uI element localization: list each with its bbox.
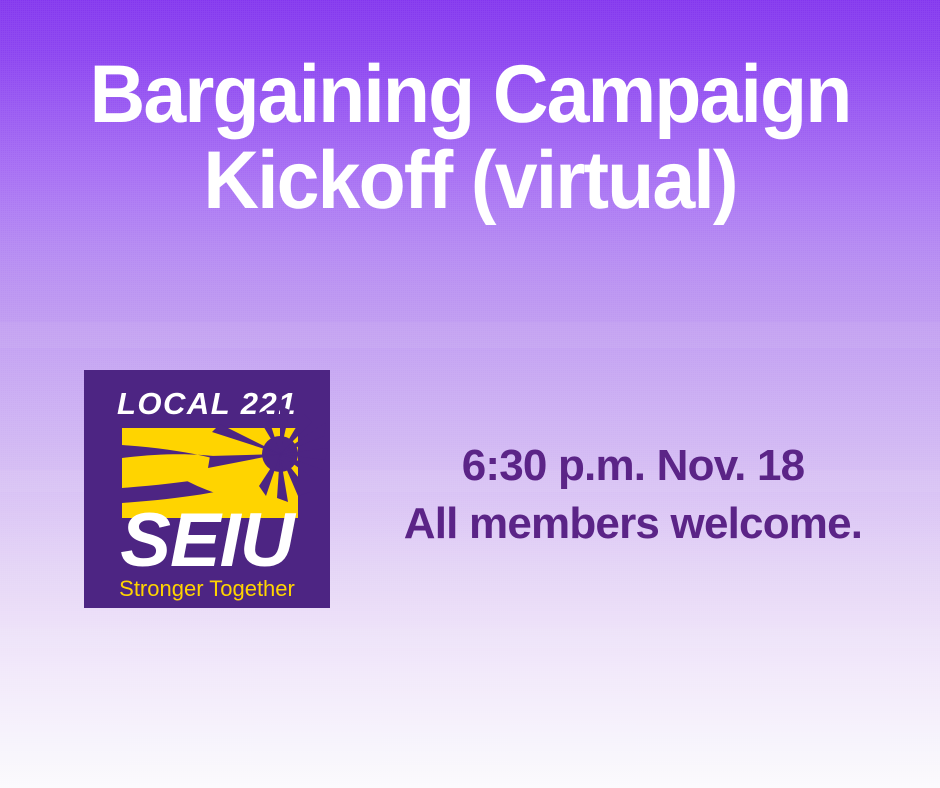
event-time-date: 6:30 p.m. Nov. 18: [350, 437, 916, 495]
event-flyer: Bargaining Campaign Kickoff (virtual) LO…: [0, 0, 940, 788]
event-details: 6:30 p.m. Nov. 18 All members welcome.: [350, 437, 916, 553]
headline-line-1: Bargaining Campaign: [28, 55, 912, 135]
logo-local-label: LOCAL 221: [117, 386, 297, 421]
gradient-band: [0, 742, 940, 772]
logo-tagline: Stronger Together: [119, 576, 295, 601]
event-audience-note: All members welcome.: [350, 495, 916, 553]
logo-wordmark: SEIU: [120, 498, 296, 583]
flyer-headline: Bargaining Campaign Kickoff (virtual): [28, 55, 912, 222]
gradient-band: [0, 628, 940, 648]
headline-line-2: Kickoff (virtual): [28, 141, 912, 221]
seiu-local-221-logo: LOCAL 221: [84, 370, 330, 608]
gradient-band: [0, 322, 940, 348]
